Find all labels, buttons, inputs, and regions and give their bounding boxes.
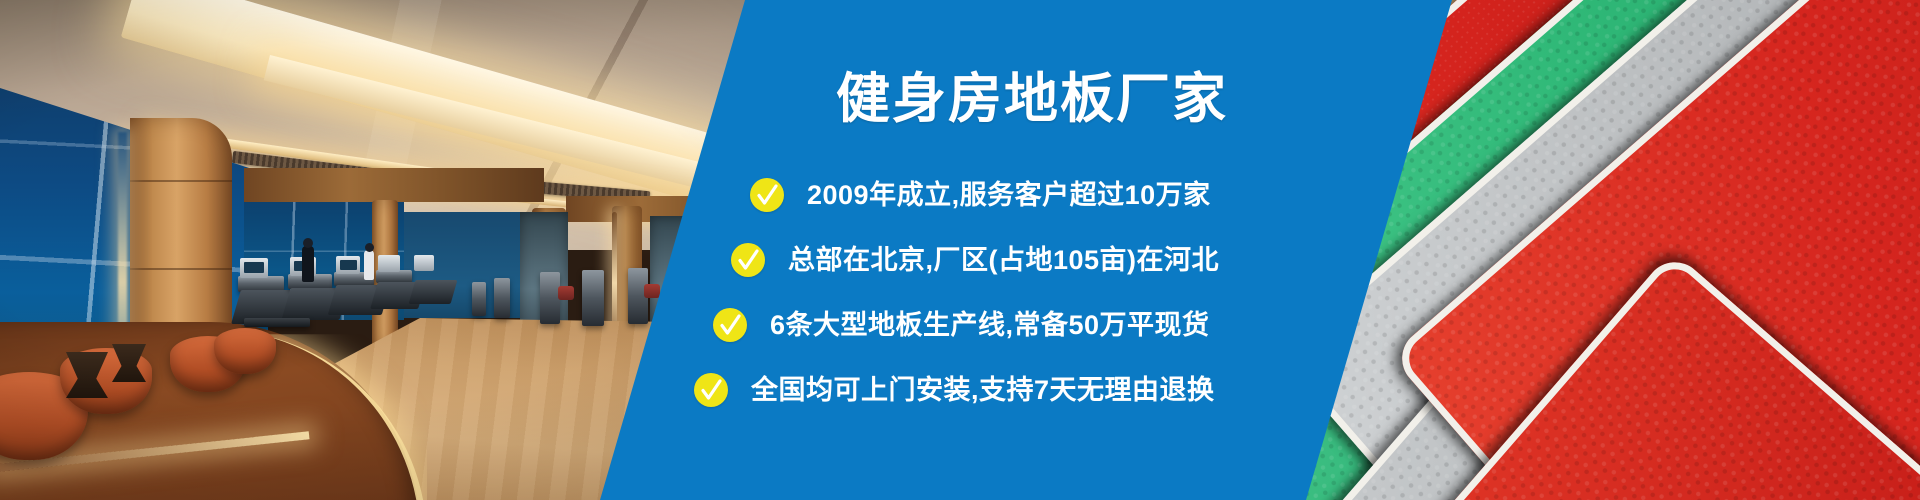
list-item-label: 2009年成立,服务客户超过10万家 bbox=[807, 182, 1211, 209]
list-item: 全国均可上门安装,支持7天无理由退换 bbox=[694, 373, 1215, 407]
check-circle-icon bbox=[713, 308, 747, 342]
list-item-label: 总部在北京,厂区(占地105亩)在河北 bbox=[788, 247, 1219, 274]
list-item: 2009年成立,服务客户超过10万家 bbox=[750, 178, 1211, 212]
promo-banner: 健身房地板厂家 2009年成立,服务客户超过10万家 总部在北京,厂区(占地10… bbox=[0, 0, 1920, 500]
list-item-label: 6条大型地板生产线,常备50万平现货 bbox=[770, 312, 1210, 339]
check-circle-icon bbox=[750, 178, 784, 212]
list-item: 总部在北京,厂区(占地105亩)在河北 bbox=[731, 243, 1219, 277]
list-item-label: 全国均可上门安装,支持7天无理由退换 bbox=[751, 377, 1215, 404]
panel-content: 健身房地板厂家 2009年成立,服务客户超过10万家 总部在北京,厂区(占地10… bbox=[0, 0, 1920, 500]
check-circle-icon bbox=[694, 373, 728, 407]
feature-list: 2009年成立,服务客户超过10万家 总部在北京,厂区(占地105亩)在河北 6… bbox=[0, 0, 1920, 500]
list-item: 6条大型地板生产线,常备50万平现货 bbox=[713, 308, 1210, 342]
check-circle-icon bbox=[731, 243, 765, 277]
